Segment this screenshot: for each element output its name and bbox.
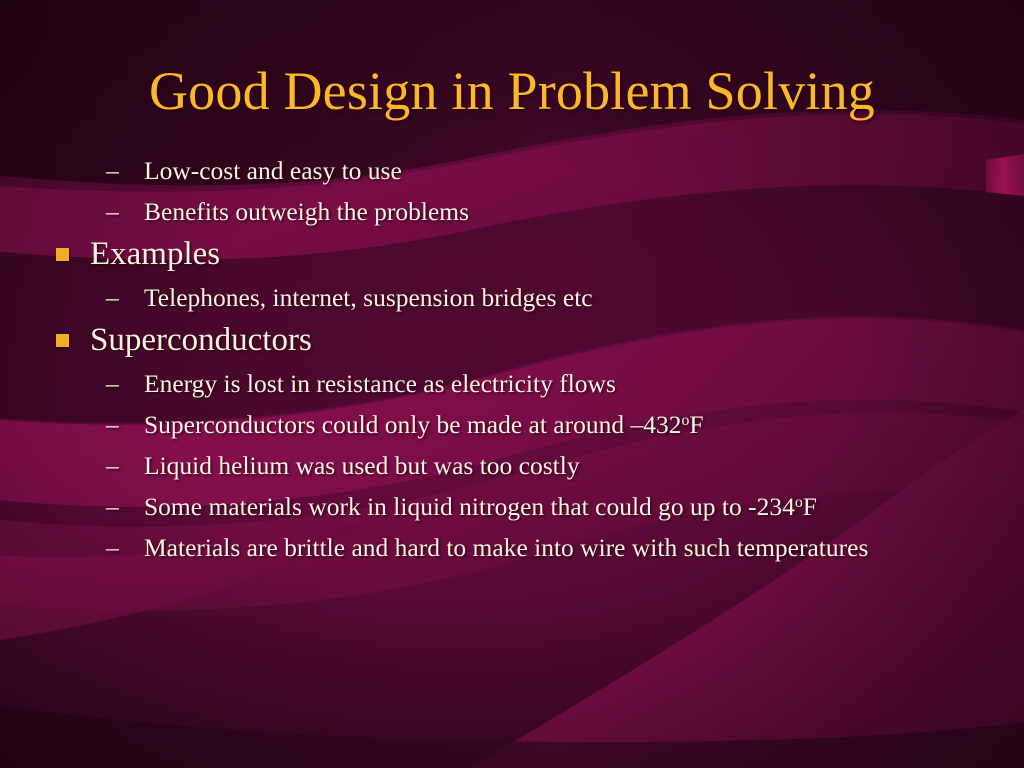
bullet-item-level1: Examples xyxy=(56,232,988,277)
dash-marker-icon: – xyxy=(106,486,144,527)
bullet-item-level2: – Liquid helium was used but was too cos… xyxy=(106,445,988,486)
bullet-text: Materials are brittle and hard to make i… xyxy=(144,527,988,568)
bullet-item-level2: – Benefits outweigh the problems xyxy=(106,191,988,232)
degree-superscript: o xyxy=(795,494,803,511)
dash-marker-icon: – xyxy=(106,363,144,404)
bullet-text: Liquid helium was used but was too costl… xyxy=(144,445,988,486)
dash-marker-icon: – xyxy=(106,527,144,568)
bullet-item-level2: – Materials are brittle and hard to make… xyxy=(106,527,988,568)
slide-body: – Low-cost and easy to use – Benefits ou… xyxy=(48,150,988,568)
dash-marker-icon: – xyxy=(106,445,144,486)
dash-marker-icon: – xyxy=(106,404,144,445)
bullet-text: Energy is lost in resistance as electric… xyxy=(144,363,988,404)
dash-marker-icon: – xyxy=(106,150,144,191)
bullet-text: Benefits outweigh the problems xyxy=(144,191,988,232)
presentation-slide: Good Design in Problem Solving – Low-cos… xyxy=(0,0,1024,768)
dash-marker-icon: – xyxy=(106,277,144,318)
bullet-item-level2: – Superconductors could only be made at … xyxy=(106,404,988,445)
bullet-text: Some materials work in liquid nitrogen t… xyxy=(144,486,988,527)
bullet-item-level2: – Low-cost and easy to use xyxy=(106,150,988,191)
bullet-text-main: Some materials work in liquid nitrogen t… xyxy=(144,492,795,521)
bullet-item-level2: – Energy is lost in resistance as electr… xyxy=(106,363,988,404)
bullet-text-tail: F xyxy=(803,492,817,521)
bullet-text-tail: F xyxy=(689,410,703,439)
square-bullet-icon xyxy=(56,232,90,277)
bullet-item-level1: Superconductors xyxy=(56,318,988,363)
bullet-text: Superconductors xyxy=(90,318,988,363)
dash-marker-icon: – xyxy=(106,191,144,232)
bullet-text: Telephones, internet, suspension bridges… xyxy=(144,277,988,318)
square-bullet-icon xyxy=(56,318,90,363)
bullet-text: Superconductors could only be made at ar… xyxy=(144,404,988,445)
bullet-text: Examples xyxy=(90,232,988,277)
bullet-text-main: Superconductors could only be made at ar… xyxy=(144,410,682,439)
bullet-text: Low-cost and easy to use xyxy=(144,150,988,191)
slide-title: Good Design in Problem Solving xyxy=(0,62,1024,120)
bullet-item-level2: – Some materials work in liquid nitrogen… xyxy=(106,486,988,527)
bullet-item-level2: – Telephones, internet, suspension bridg… xyxy=(106,277,988,318)
